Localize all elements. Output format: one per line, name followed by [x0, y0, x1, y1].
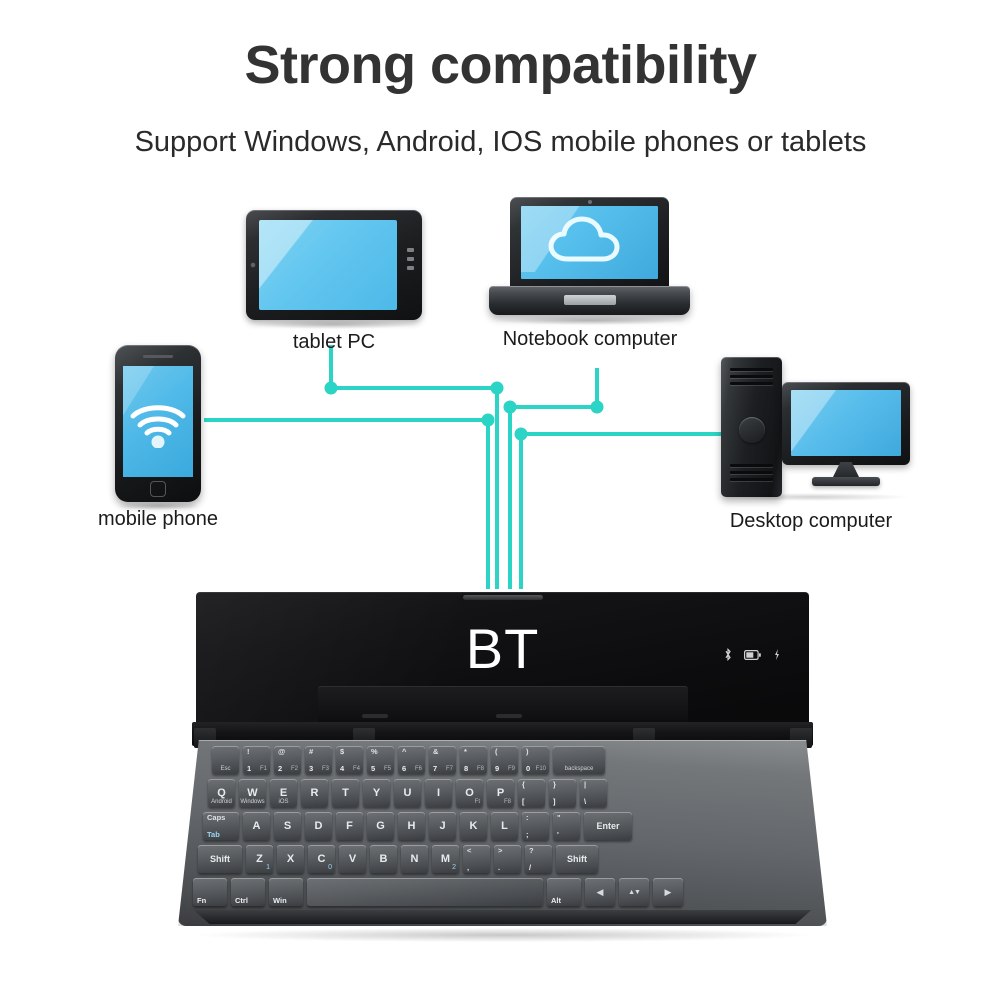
cloud-icon — [544, 215, 636, 271]
key-z[interactable]: Z1 — [246, 845, 273, 873]
device-label-tablet-pc: tablet PC — [246, 331, 422, 354]
key-row-modifiers: Fn Ctrl Win Alt ◀ ▲▼ ▶ — [193, 878, 683, 906]
key-j[interactable]: J — [429, 812, 456, 840]
key-g[interactable]: G — [367, 812, 394, 840]
page-subtitle: Support Windows, Android, IOS mobile pho… — [0, 126, 1001, 159]
device-desktop-computer — [714, 357, 910, 505]
key-c[interactable]: C0 — [308, 845, 335, 873]
keyboard-shadow — [198, 928, 808, 942]
monitor-stand-foot — [812, 477, 880, 486]
inner-lid-nub-left — [362, 714, 388, 718]
desktop-shadow — [718, 493, 908, 501]
key-q[interactable]: QAndroid — [208, 779, 235, 807]
key-enter[interactable]: Enter — [584, 812, 632, 840]
key-6[interactable]: ^6F6 — [398, 746, 425, 774]
phone-screen — [123, 366, 193, 477]
key-h[interactable]: H — [398, 812, 425, 840]
junction-node-bus-2 — [504, 401, 517, 414]
key-quote[interactable]: "' — [553, 812, 580, 840]
key-u[interactable]: U — [394, 779, 421, 807]
keyboard-brand-text: BT — [196, 616, 809, 681]
tower-vents-bottom — [730, 464, 773, 485]
key-m[interactable]: M2 — [432, 845, 459, 873]
key-slash[interactable]: ?/ — [525, 845, 552, 873]
battery-icon — [744, 650, 761, 660]
wifi-icon — [129, 400, 187, 448]
key-comma[interactable]: <, — [463, 845, 490, 873]
key-0[interactable]: )0F10 — [522, 746, 549, 774]
device-notebook-computer — [489, 197, 690, 317]
key-s[interactable]: S — [274, 812, 301, 840]
tablet-screen — [259, 220, 397, 310]
key-p[interactable]: PF8 — [487, 779, 514, 807]
notebook-shadow — [495, 316, 685, 325]
key-backspace[interactable]: backspace — [553, 746, 605, 774]
notebook-trackpad — [564, 295, 616, 305]
key-k[interactable]: K — [460, 812, 487, 840]
notebook-camera-icon — [588, 200, 592, 204]
key-e[interactable]: EiOS — [270, 779, 297, 807]
key-shift-right[interactable]: Shift — [556, 845, 598, 873]
key-arrow-left[interactable]: ◀ — [585, 878, 615, 906]
key-row-bottom-letters: Shift Z1 X C0 V B N M2 <, >. ?/ Shift — [198, 845, 598, 873]
key-bracket-left[interactable]: {[ — [518, 779, 545, 807]
key-row-qwerty: QAndroid WWindows EiOS R T Y U I OFt PF8… — [208, 779, 607, 807]
charge-icon — [773, 648, 781, 661]
junction-node-bus-3 — [482, 414, 495, 427]
bluetooth-icon — [724, 648, 732, 661]
key-bracket-right[interactable]: }] — [549, 779, 576, 807]
key-arrow-up-down[interactable]: ▲▼ — [619, 878, 649, 906]
device-mobile-phone — [115, 345, 201, 502]
key-4[interactable]: $4F4 — [336, 746, 363, 774]
keyboard-inner-lid — [318, 686, 688, 724]
key-i[interactable]: I — [425, 779, 452, 807]
key-arrow-right[interactable]: ▶ — [653, 878, 683, 906]
phone-speaker — [143, 355, 173, 358]
key-2[interactable]: @2F2 — [274, 746, 301, 774]
key-t[interactable]: T — [332, 779, 359, 807]
key-7[interactable]: &7F7 — [429, 746, 456, 774]
key-8[interactable]: *8F8 — [460, 746, 487, 774]
key-9[interactable]: (9F9 — [491, 746, 518, 774]
page-title: Strong compatibility — [0, 34, 1001, 96]
tower-vents-top — [730, 368, 773, 389]
keyboard-status-indicators — [724, 648, 781, 661]
key-l[interactable]: L — [491, 812, 518, 840]
key-backslash[interactable]: |\ — [580, 779, 607, 807]
key-y[interactable]: Y — [363, 779, 390, 807]
notebook-lid — [510, 197, 669, 290]
tower-power-button — [739, 417, 765, 443]
monitor-screen — [791, 390, 901, 456]
device-label-notebook-computer: Notebook computer — [470, 328, 710, 351]
key-3[interactable]: #3F3 — [305, 746, 332, 774]
key-b[interactable]: B — [370, 845, 397, 873]
tablet-side-buttons — [407, 248, 414, 275]
desktop-monitor — [782, 382, 910, 465]
key-esc[interactable]: Esc — [212, 746, 239, 774]
key-f[interactable]: F — [336, 812, 363, 840]
junction-node-bus-4 — [515, 428, 528, 441]
key-d[interactable]: D — [305, 812, 332, 840]
key-semicolon[interactable]: :; — [522, 812, 549, 840]
device-label-desktop-computer: Desktop computer — [700, 510, 922, 533]
inner-lid-nub-center — [496, 714, 522, 718]
key-caps-tab[interactable]: CapsTab — [203, 812, 239, 840]
desktop-tower — [721, 357, 782, 497]
key-n[interactable]: N — [401, 845, 428, 873]
key-fn[interactable]: Fn — [193, 878, 227, 906]
key-a[interactable]: A — [243, 812, 270, 840]
junction-node-tablet — [325, 382, 338, 395]
key-5[interactable]: %5F5 — [367, 746, 394, 774]
key-w[interactable]: WWindows — [239, 779, 266, 807]
key-shift-left[interactable]: Shift — [198, 845, 242, 873]
tablet-shadow — [254, 320, 414, 329]
junction-node-bus-1 — [491, 382, 504, 395]
device-label-mobile-phone: mobile phone — [92, 508, 224, 531]
keyboard-key-area: Esc !1F1 @2F2 #3F3 $4F4 %5F5 ^6F6 &7F7 *… — [178, 742, 827, 918]
key-r[interactable]: R — [301, 779, 328, 807]
keyboard-lid-latch — [463, 595, 543, 600]
key-v[interactable]: V — [339, 845, 366, 873]
notebook-screen — [521, 206, 658, 279]
key-ctrl[interactable]: Ctrl — [231, 878, 265, 906]
notebook-base — [489, 286, 690, 315]
key-period[interactable]: >. — [494, 845, 521, 873]
device-tablet-pc — [246, 210, 422, 320]
junction-node-notebook — [591, 401, 604, 414]
product-bluetooth-keyboard: BT Esc !1F1 @2F2 # — [178, 592, 827, 952]
key-x[interactable]: X — [277, 845, 304, 873]
key-o[interactable]: OFt — [456, 779, 483, 807]
key-1[interactable]: !1F1 — [243, 746, 270, 774]
key-alt[interactable]: Alt — [547, 878, 581, 906]
tablet-camera-icon — [251, 263, 255, 267]
key-win[interactable]: Win — [269, 878, 303, 906]
key-space[interactable] — [307, 878, 543, 906]
key-row-number: Esc !1F1 @2F2 #3F3 $4F4 %5F5 ^6F6 &7F7 *… — [212, 746, 605, 774]
key-row-home: CapsTab A S D F G H J K L :; "' Enter — [203, 812, 632, 840]
phone-home-button — [150, 481, 166, 497]
